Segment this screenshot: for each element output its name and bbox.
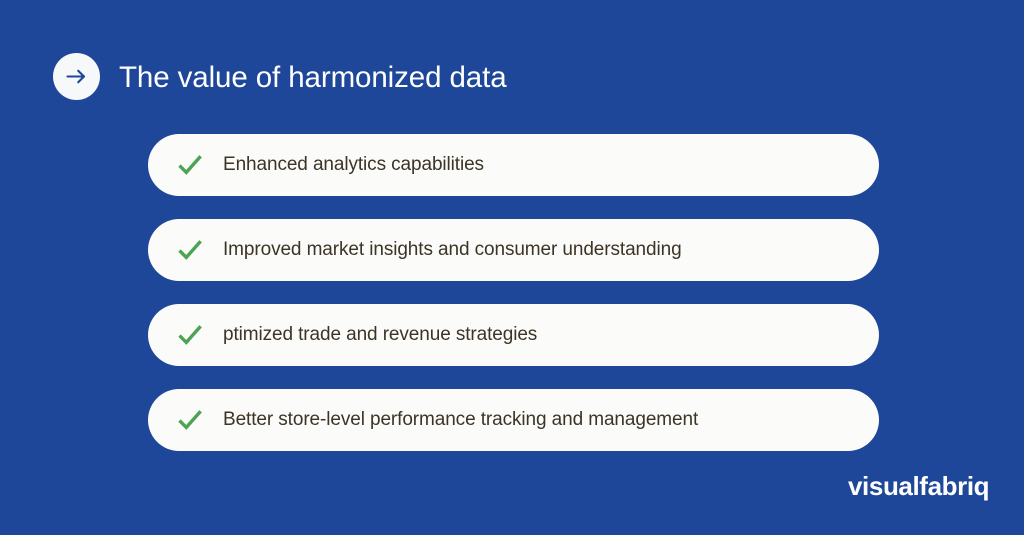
list-item-label: ptimized trade and revenue strategies [223, 325, 537, 346]
list-item-label: Improved market insights and consumer un… [223, 240, 682, 261]
arrow-right-icon [53, 53, 100, 100]
list-item-label: Better store-level performance tracking … [223, 410, 698, 431]
list-item[interactable]: Better store-level performance tracking … [148, 389, 879, 451]
slide-root: The value of harmonized data Enhanced an… [0, 0, 1024, 535]
check-icon [175, 235, 205, 265]
list-item[interactable]: Enhanced analytics capabilities [148, 134, 879, 196]
check-icon [175, 405, 205, 435]
list-item[interactable]: Improved market insights and consumer un… [148, 219, 879, 281]
brand-logo: visualfabriq [848, 473, 989, 499]
check-icon [175, 320, 205, 350]
page-title: The value of harmonized data [119, 63, 507, 93]
check-icon [175, 150, 205, 180]
benefit-list: Enhanced analytics capabilities Improved… [148, 134, 879, 451]
list-item[interactable]: ptimized trade and revenue strategies [148, 304, 879, 366]
slide-header: The value of harmonized data [53, 53, 507, 100]
list-item-label: Enhanced analytics capabilities [223, 155, 484, 176]
